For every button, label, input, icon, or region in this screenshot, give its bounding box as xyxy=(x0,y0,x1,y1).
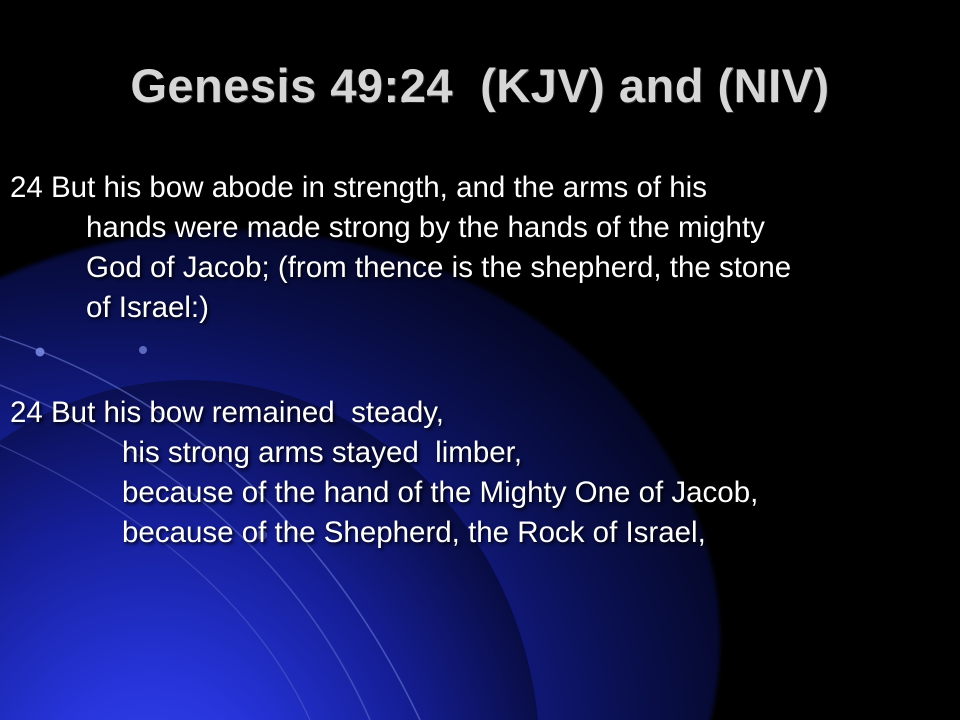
niv-line-3: because of the hand of the Mighty One of… xyxy=(10,473,954,513)
niv-passage: 24 But his bow remained steady, his stro… xyxy=(10,393,954,553)
kjv-line-2: hands were made strong by the hands of t… xyxy=(48,208,954,248)
kjv-line-3: God of Jacob; (from thence is the shephe… xyxy=(48,248,954,288)
kjv-paragraph: 24 But his bow abode in strength, and th… xyxy=(10,168,954,328)
kjv-line-1: 24 But his bow abode in strength, and th… xyxy=(48,168,954,208)
kjv-passage: 24 But his bow abode in strength, and th… xyxy=(10,168,954,328)
niv-line-4: because of the Shepherd, the Rock of Isr… xyxy=(10,513,954,553)
slide: Genesis 49:24 (KJV) and (NIV) 24 But his… xyxy=(0,0,960,720)
niv-line-1: 24 But his bow remained steady, xyxy=(10,393,954,433)
kjv-line-4: of Israel:) xyxy=(48,288,954,328)
niv-line-2: his strong arms stayed limber, xyxy=(10,433,954,473)
page-title: Genesis 49:24 (KJV) and (NIV) xyxy=(0,58,960,113)
